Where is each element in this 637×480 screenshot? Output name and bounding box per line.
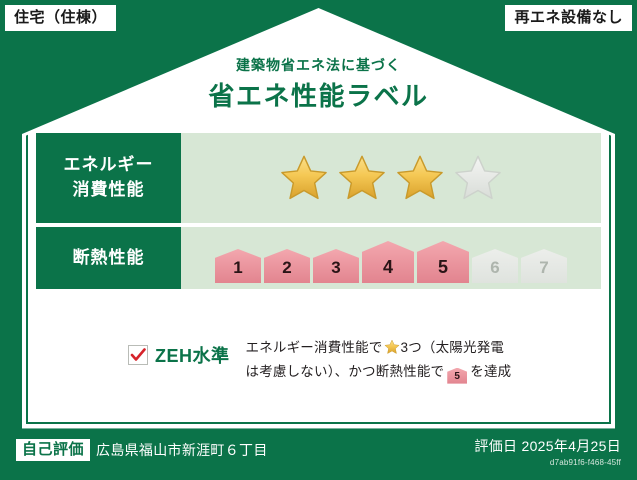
zeh-block: ZEH水準 エネルギー消費性能で3つ（太陽光発電は考慮しない）、かつ断熱性能で5… bbox=[36, 336, 601, 384]
zeh-label: ZEH水準 bbox=[155, 342, 230, 368]
footer: 自己評価 広島県福山市新涯町６丁目 評価日 2025年4月25日 d7ab91f… bbox=[0, 430, 637, 480]
insulation-grade-4: 4 bbox=[362, 241, 414, 283]
row-energy-performance: エネルギー 消費性能 bbox=[36, 133, 601, 223]
insulation-grade-7: 7 bbox=[521, 249, 567, 283]
insulation-grade-5: 5 bbox=[417, 241, 469, 283]
title-block: 建築物省エネ法に基づく 省エネ性能ラベル bbox=[0, 57, 637, 112]
zeh-checkbox[interactable] bbox=[128, 345, 148, 365]
zeh-desc-part2: は考慮しない）、かつ断熱性能で bbox=[246, 364, 445, 379]
row-energy-label-line2: 消費性能 bbox=[73, 180, 145, 199]
row-insulation-label: 断熱性能 bbox=[36, 227, 181, 289]
row-energy-label: エネルギー 消費性能 bbox=[36, 133, 181, 223]
zeh-tag: ZEH水準 bbox=[36, 336, 230, 368]
energy-performance-label: 住宅（住棟） 再エネ設備なし 建築物省エネ法に基づく 省エネ性能ラベル エネルギ… bbox=[0, 0, 637, 480]
row-energy-label-line1: エネルギー bbox=[64, 155, 154, 174]
tag-building-type: 住宅（住棟） bbox=[5, 5, 116, 31]
footer-left: 自己評価 広島県福山市新涯町６丁目 bbox=[16, 439, 268, 461]
star-icon-filled bbox=[395, 153, 445, 203]
footer-divider bbox=[22, 428, 615, 429]
insulation-grade-3: 3 bbox=[313, 249, 359, 283]
row-insulation-value: 1234567 bbox=[181, 227, 601, 289]
star-icon-inline bbox=[384, 339, 400, 355]
row-energy-value bbox=[181, 133, 601, 223]
title-subtitle: 建築物省エネ法に基づく bbox=[0, 57, 637, 74]
zeh-description: エネルギー消費性能で3つ（太陽光発電は考慮しない）、かつ断熱性能で5を達成 bbox=[246, 336, 602, 384]
insulation-grade-scale: 1234567 bbox=[215, 227, 567, 289]
star-icon-empty bbox=[453, 153, 503, 203]
star-rating bbox=[279, 153, 503, 203]
insulation-grade-6: 6 bbox=[472, 249, 518, 283]
zeh-desc-part1: エネルギー消費性能で bbox=[246, 340, 383, 355]
evaluation-id: d7ab91f6-f468-45ff bbox=[474, 458, 621, 467]
property-address: 広島県福山市新涯町６丁目 bbox=[96, 440, 268, 460]
zeh-desc-star-count: 3つ（太陽光発電 bbox=[401, 340, 505, 355]
star-icon-filled bbox=[279, 153, 329, 203]
footer-right: 評価日 2025年4月25日 d7ab91f6-f468-45ff bbox=[474, 438, 621, 467]
insulation-grade-2: 2 bbox=[264, 249, 310, 283]
zeh-desc-badge: 5 bbox=[447, 368, 467, 384]
evaluation-date: 評価日 2025年4月25日 bbox=[474, 438, 621, 455]
row-insulation-performance: 断熱性能 1234567 bbox=[36, 227, 601, 289]
performance-rows: エネルギー 消費性能 断熱性能 1234567 bbox=[36, 133, 601, 293]
tag-renewable-equipment: 再エネ設備なし bbox=[505, 5, 632, 31]
insulation-grade-1: 1 bbox=[215, 249, 261, 283]
page-title: 省エネ性能ラベル bbox=[0, 81, 637, 112]
star-icon-filled bbox=[337, 153, 387, 203]
self-evaluation-badge: 自己評価 bbox=[16, 439, 90, 461]
zeh-desc-part3: を達成 bbox=[470, 364, 511, 379]
check-icon bbox=[130, 347, 146, 363]
